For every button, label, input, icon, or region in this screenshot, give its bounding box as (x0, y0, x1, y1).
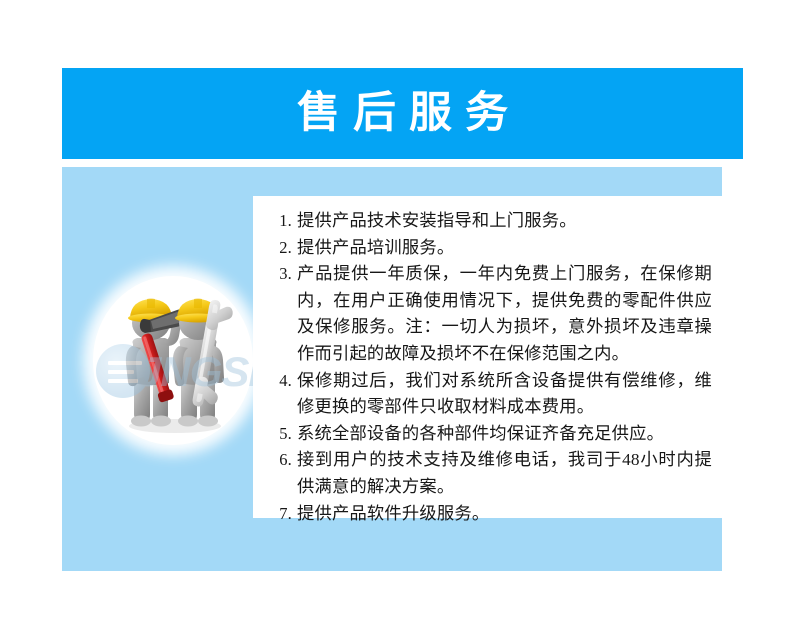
list-item: 提供产品培训服务。 (297, 235, 712, 262)
page-title: 售后服务 (284, 92, 521, 135)
service-list: 提供产品技术安装指导和上门服务。 提供产品培训服务。 产品提供一年质保，一年内免… (253, 196, 722, 527)
list-item: 接到用户的技术支持及维修电话，我司于48小时内提供满意的解决方案。 (297, 447, 712, 500)
service-workers-illustration (93, 276, 253, 445)
page-canvas: 售后服务 (0, 0, 803, 639)
list-item: 提供产品技术安装指导和上门服务。 (297, 208, 712, 235)
list-item: 提供产品软件升级服务。 (297, 501, 712, 528)
list-item: 系统全部设备的各种部件均保证齐备充足供应。 (297, 421, 712, 448)
list-item: 产品提供一年质保，一年内免费上门服务，在保修期内，在用户正确使用情况下，提供免费… (297, 261, 712, 367)
list-item: 保修期过后，我们对系统所含设备提供有偿维修，维修更换的零部件只收取材料成本费用。 (297, 368, 712, 421)
worker-with-wrench (173, 299, 235, 427)
service-content-card: 提供产品技术安装指导和上门服务。 提供产品培训服务。 产品提供一年质保，一年内免… (253, 196, 722, 518)
page-banner: 售后服务 (62, 68, 743, 159)
workers-icon (101, 286, 249, 438)
